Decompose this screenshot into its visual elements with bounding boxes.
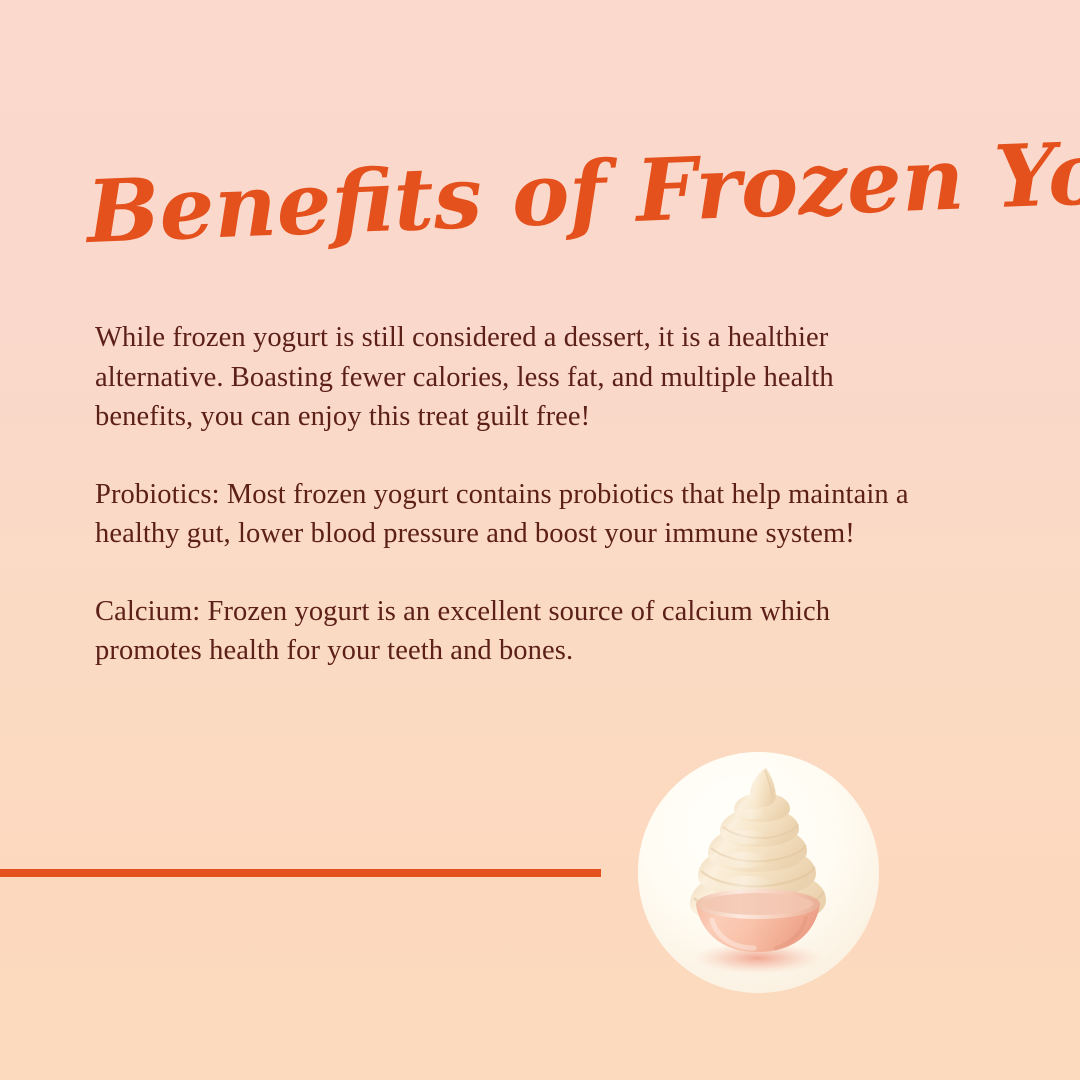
paragraph-calcium: Calcium: Frozen yogurt is an excellent s…: [95, 592, 910, 671]
frozen-yogurt-illustration: [638, 752, 879, 993]
frozen-yogurt-photo: [638, 752, 879, 993]
body-copy: While frozen yogurt is still considered …: [95, 318, 925, 671]
paragraph-intro: While frozen yogurt is still considered …: [95, 318, 910, 437]
paragraph-probiotics: Probiotics: Most frozen yogurt contains …: [95, 475, 910, 554]
divider-rule: [0, 869, 601, 877]
title-script-art: Benefits of Frozen Yogurt: [88, 158, 948, 278]
page-title-text: Benefits of Frozen Yogurt: [82, 115, 1080, 263]
page-title: Benefits of Frozen Yogurt: [88, 158, 948, 278]
poster-canvas: Benefits of Frozen Yogurt While frozen y…: [0, 0, 1080, 1080]
